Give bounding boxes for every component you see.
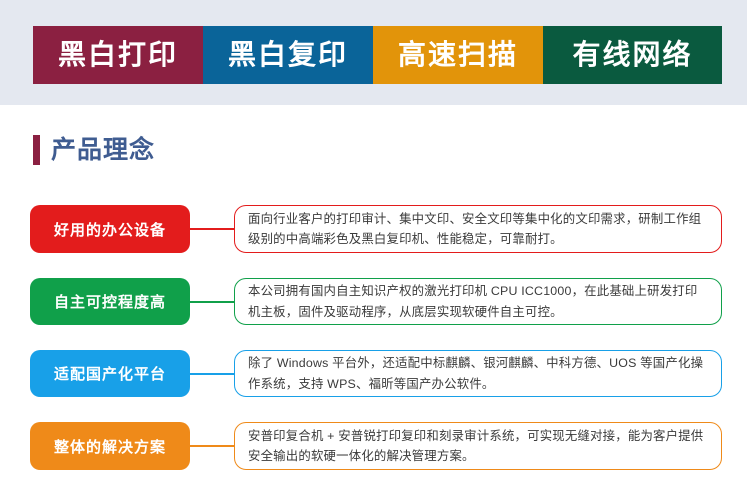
row-description-text: 本公司拥有国内自主知识产权的激光打印机 CPU ICC1000，在此基础上研发打… [248, 281, 708, 321]
row-description-text: 面向行业客户的打印审计、集中文印、安全文印等集中化的文印需求，研制工作组级别的中… [248, 209, 708, 249]
concept-row: 好用的办公设备 面向行业客户的打印审计、集中文印、安全文印等集中化的文印需求，研… [0, 205, 747, 253]
row-label-domestic-platform[interactable]: 适配国产化平台 [30, 350, 190, 397]
concept-row: 整体的解决方案 安普印复合机 + 安普锐打印复印和刻录审计系统，可实现无缝对接，… [0, 422, 747, 470]
row-label-overall-solution[interactable]: 整体的解决方案 [30, 422, 190, 470]
concept-rows: 好用的办公设备 面向行业客户的打印审计、集中文印、安全文印等集中化的文印需求，研… [0, 0, 747, 485]
row-description-text: 安普印复合机 + 安普锐打印复印和刻录审计系统，可实现无缝对接，能为客户提供安全… [248, 426, 708, 466]
row-description-box: 面向行业客户的打印审计、集中文印、安全文印等集中化的文印需求，研制工作组级别的中… [234, 205, 722, 253]
row-label-self-controllable[interactable]: 自主可控程度高 [30, 278, 190, 325]
row-description-box: 安普印复合机 + 安普锐打印复印和刻录审计系统，可实现无缝对接，能为客户提供安全… [234, 422, 722, 470]
concept-row: 自主可控程度高 本公司拥有国内自主知识产权的激光打印机 CPU ICC1000，… [0, 278, 747, 325]
row-description-box: 除了 Windows 平台外，还适配中标麒麟、银河麒麟、中科方德、UOS 等国产… [234, 350, 722, 397]
row-connector-line [190, 373, 235, 375]
row-description-text: 除了 Windows 平台外，还适配中标麒麟、银河麒麟、中科方德、UOS 等国产… [248, 353, 708, 393]
row-connector-line [190, 228, 235, 230]
row-description-box: 本公司拥有国内自主知识产权的激光打印机 CPU ICC1000，在此基础上研发打… [234, 278, 722, 325]
row-connector-line [190, 445, 235, 447]
concept-row: 适配国产化平台 除了 Windows 平台外，还适配中标麒麟、银河麒麟、中科方德… [0, 350, 747, 397]
row-label-usable-office-equipment[interactable]: 好用的办公设备 [30, 205, 190, 253]
row-connector-line [190, 301, 235, 303]
